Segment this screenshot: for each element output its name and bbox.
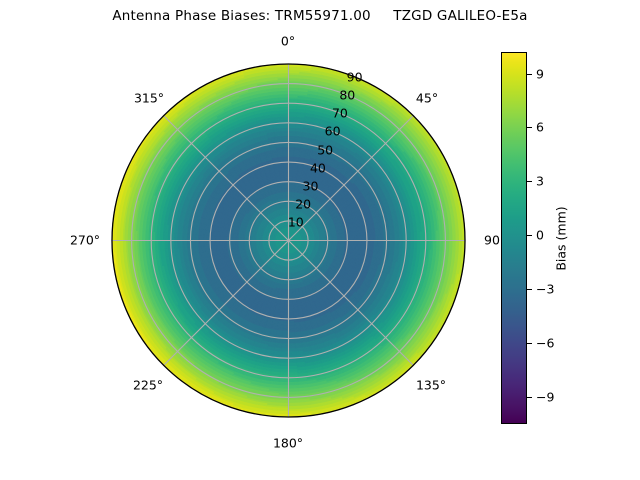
radial-ticklabel-10: 10 [288,215,304,230]
radial-ticklabel-70: 70 [332,106,348,121]
angle-label-270: 270° [70,233,100,248]
colorbar-tick-6 [527,74,532,75]
radial-ticklabel-50: 50 [317,142,333,157]
colorbar-tick-4 [527,181,532,182]
angle-label-180: 180° [273,436,303,451]
angle-label-90: 90 [484,233,500,248]
radial-ticklabel-80: 80 [339,88,355,103]
page-title: Antenna Phase Biases: TRM55971.00 TZGD G… [0,8,640,24]
radial-ticklabel-30: 30 [303,179,319,194]
angle-label-0: 0° [281,34,295,49]
angle-label-225: 225° [133,378,163,393]
radial-ticklabel-20: 20 [295,197,311,212]
colorbar-tick-3 [527,235,532,236]
colorbar-tick-1 [527,343,532,344]
angle-label-315: 315° [134,91,164,106]
colorbar-ticklabel-6: 9 [536,66,544,81]
polar-plot-svg [111,63,466,418]
polar-grid [112,64,465,417]
colorbar-tick-2 [527,289,532,290]
colorbar-gradient [501,52,527,424]
radial-ticklabel-40: 40 [310,160,326,175]
colorbar[interactable]: −9−6−30369 [501,52,527,424]
colorbar-ticklabel-3: 0 [536,228,544,243]
colorbar-label-text: Bias (mm) [554,206,569,270]
polar-axes[interactable]: 0° 45° 90 135° 180° 225° 270° 315° 10203… [111,63,466,418]
colorbar-tick-5 [527,127,532,128]
figure-canvas: Antenna Phase Biases: TRM55971.00 TZGD G… [0,0,640,480]
angle-label-45: 45° [416,91,438,106]
radial-ticklabel-90: 90 [347,69,363,84]
radial-ticklabel-60: 60 [325,124,341,139]
angle-label-135: 135° [416,378,446,393]
colorbar-ticklabel-4: 3 [536,174,544,189]
colorbar-ticklabel-5: 6 [536,120,544,135]
colorbar-axis-label: Bias (mm) [551,52,571,424]
colorbar-tick-0 [527,397,532,398]
